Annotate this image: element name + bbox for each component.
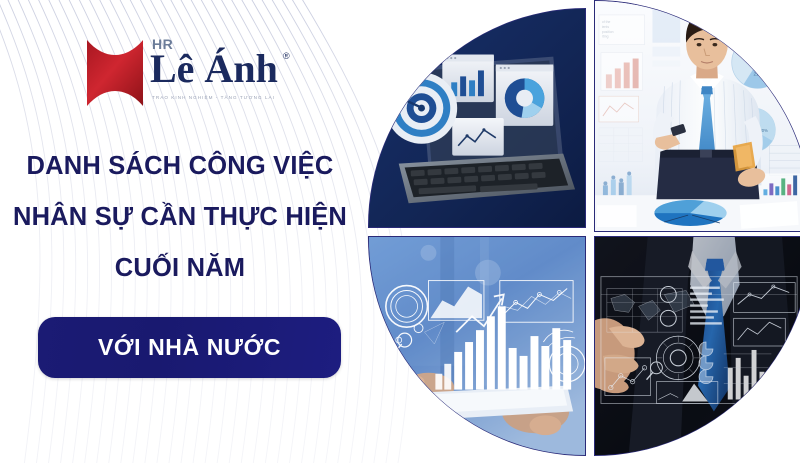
le-anh-hourglass-mark xyxy=(84,38,146,108)
svg-text:21%: 21% xyxy=(754,71,763,76)
collage-quadrant-suit-dashboard[interactable] xyxy=(594,236,800,456)
svg-text:ients: ients xyxy=(602,25,609,29)
svg-text:position: position xyxy=(602,30,614,34)
left-content-panel: HR Lê Ánh ® TRAO KINH NGHIỆM - TĂNG TƯƠN… xyxy=(0,0,368,463)
svg-text:rting: rting xyxy=(602,35,609,39)
cta-button[interactable]: VỚI NHÀ NƯỚC xyxy=(38,317,341,378)
headline-line-1: DANH SÁCH CÔNG VIỆC xyxy=(0,154,360,180)
brand-name: Lê Ánh xyxy=(150,49,278,89)
svg-text:of the: of the xyxy=(602,20,611,24)
headline-line-2: NHÂN SỰ CẦN THỰC HIỆN xyxy=(0,205,360,231)
registered-mark-icon: ® xyxy=(283,52,290,61)
collage-quadrant-businessman-phone[interactable]: of the ients position rting xyxy=(594,0,800,232)
collage-quadrant-laptop-analytics[interactable] xyxy=(368,8,586,228)
brand-tagline: TRAO KINH NGHIỆM - TĂNG TƯƠNG LAI xyxy=(152,96,275,101)
banner-canvas: HR Lê Ánh ® TRAO KINH NGHIỆM - TĂNG TƯƠN… xyxy=(0,0,800,463)
brand-wordmark: HR Lê Ánh ® TRAO KINH NGHIỆM - TĂNG TƯƠN… xyxy=(152,34,302,120)
headline-line-3: CUỐI NĂM xyxy=(0,256,360,282)
collage-quadrant-tablet-growth-chart[interactable] xyxy=(368,236,586,456)
brand-logo: HR Lê Ánh ® TRAO KINH NGHIỆM - TĂNG TƯƠN… xyxy=(84,34,299,120)
svg-text:35%: 35% xyxy=(764,57,773,62)
circular-photo-collage: of the ients position rting xyxy=(332,0,800,463)
svg-text:44%: 44% xyxy=(745,53,754,58)
